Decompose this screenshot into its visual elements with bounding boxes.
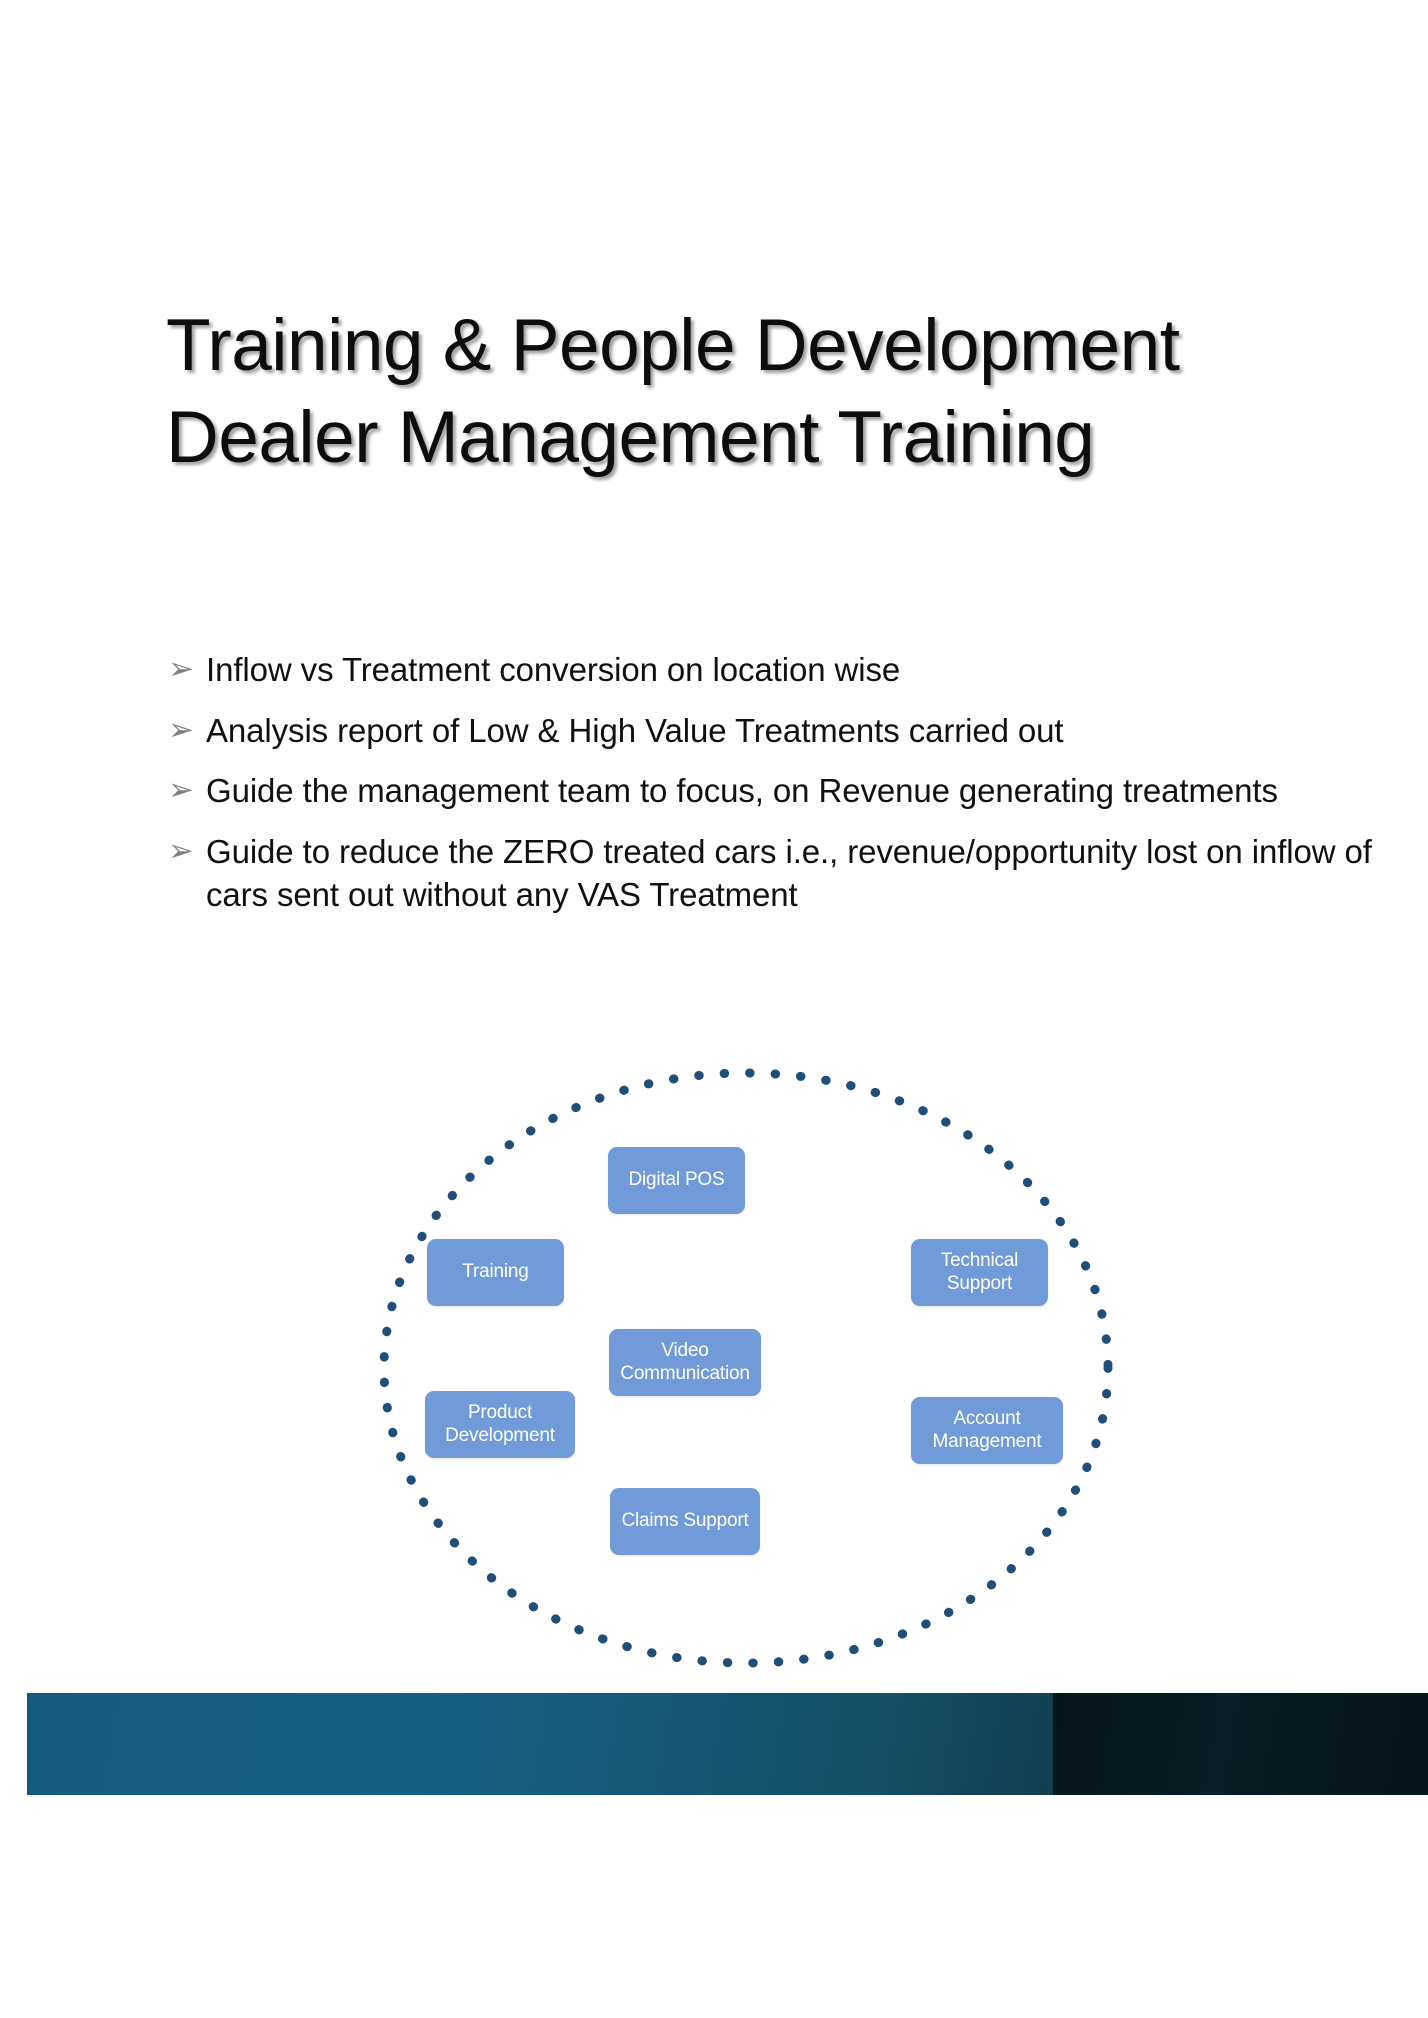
- list-item-label: Analysis report of Low & High Value Trea…: [206, 709, 1398, 753]
- footer-band-left: [27, 1693, 1053, 1795]
- node-claims-support-label: Claims Support: [615, 1510, 754, 1532]
- list-item-label: Guide to reduce the ZERO treated cars i.…: [206, 830, 1398, 917]
- list-item: ➢ Analysis report of Low & High Value Tr…: [168, 709, 1398, 753]
- node-product-development-label: Product Development: [425, 1402, 575, 1447]
- capability-cluster-diagram: Digital POS Training Technical Support V…: [366, 1058, 1126, 1678]
- arrow-bullet-icon: ➢: [168, 830, 206, 872]
- title-line-2: Dealer Management Training: [166, 392, 1326, 484]
- bullet-list: ➢ Inflow vs Treatment conversion on loca…: [168, 648, 1398, 934]
- footer-band-right: [1053, 1693, 1428, 1795]
- node-technical-support[interactable]: Technical Support: [911, 1239, 1048, 1306]
- list-item: ➢ Guide the management team to focus, on…: [168, 769, 1398, 813]
- arrow-bullet-icon: ➢: [168, 769, 206, 811]
- arrow-bullet-icon: ➢: [168, 648, 206, 690]
- node-technical-support-label: Technical Support: [911, 1250, 1048, 1295]
- node-digital-pos[interactable]: Digital POS: [608, 1147, 745, 1214]
- list-item-label: Inflow vs Treatment conversion on locati…: [206, 648, 1398, 692]
- list-item: ➢ Inflow vs Treatment conversion on loca…: [168, 648, 1398, 692]
- node-account-management[interactable]: Account Management: [911, 1397, 1063, 1464]
- node-video-communication-label: Video Communication: [609, 1340, 761, 1385]
- node-product-development[interactable]: Product Development: [425, 1391, 575, 1458]
- node-training[interactable]: Training: [427, 1239, 564, 1306]
- node-claims-support[interactable]: Claims Support: [610, 1488, 760, 1555]
- node-digital-pos-label: Digital POS: [622, 1169, 730, 1191]
- title-line-1: Training & People Development: [166, 300, 1326, 392]
- node-training-label: Training: [456, 1261, 534, 1283]
- list-item: ➢ Guide to reduce the ZERO treated cars …: [168, 830, 1398, 917]
- slide-canvas: Training & People Development Dealer Man…: [0, 0, 1428, 2018]
- node-account-management-label: Account Management: [911, 1408, 1063, 1453]
- arrow-bullet-icon: ➢: [168, 709, 206, 751]
- list-item-label: Guide the management team to focus, on R…: [206, 769, 1398, 813]
- page-title: Training & People Development Dealer Man…: [166, 300, 1326, 484]
- node-video-communication[interactable]: Video Communication: [609, 1329, 761, 1396]
- footer-band: [27, 1693, 1428, 1795]
